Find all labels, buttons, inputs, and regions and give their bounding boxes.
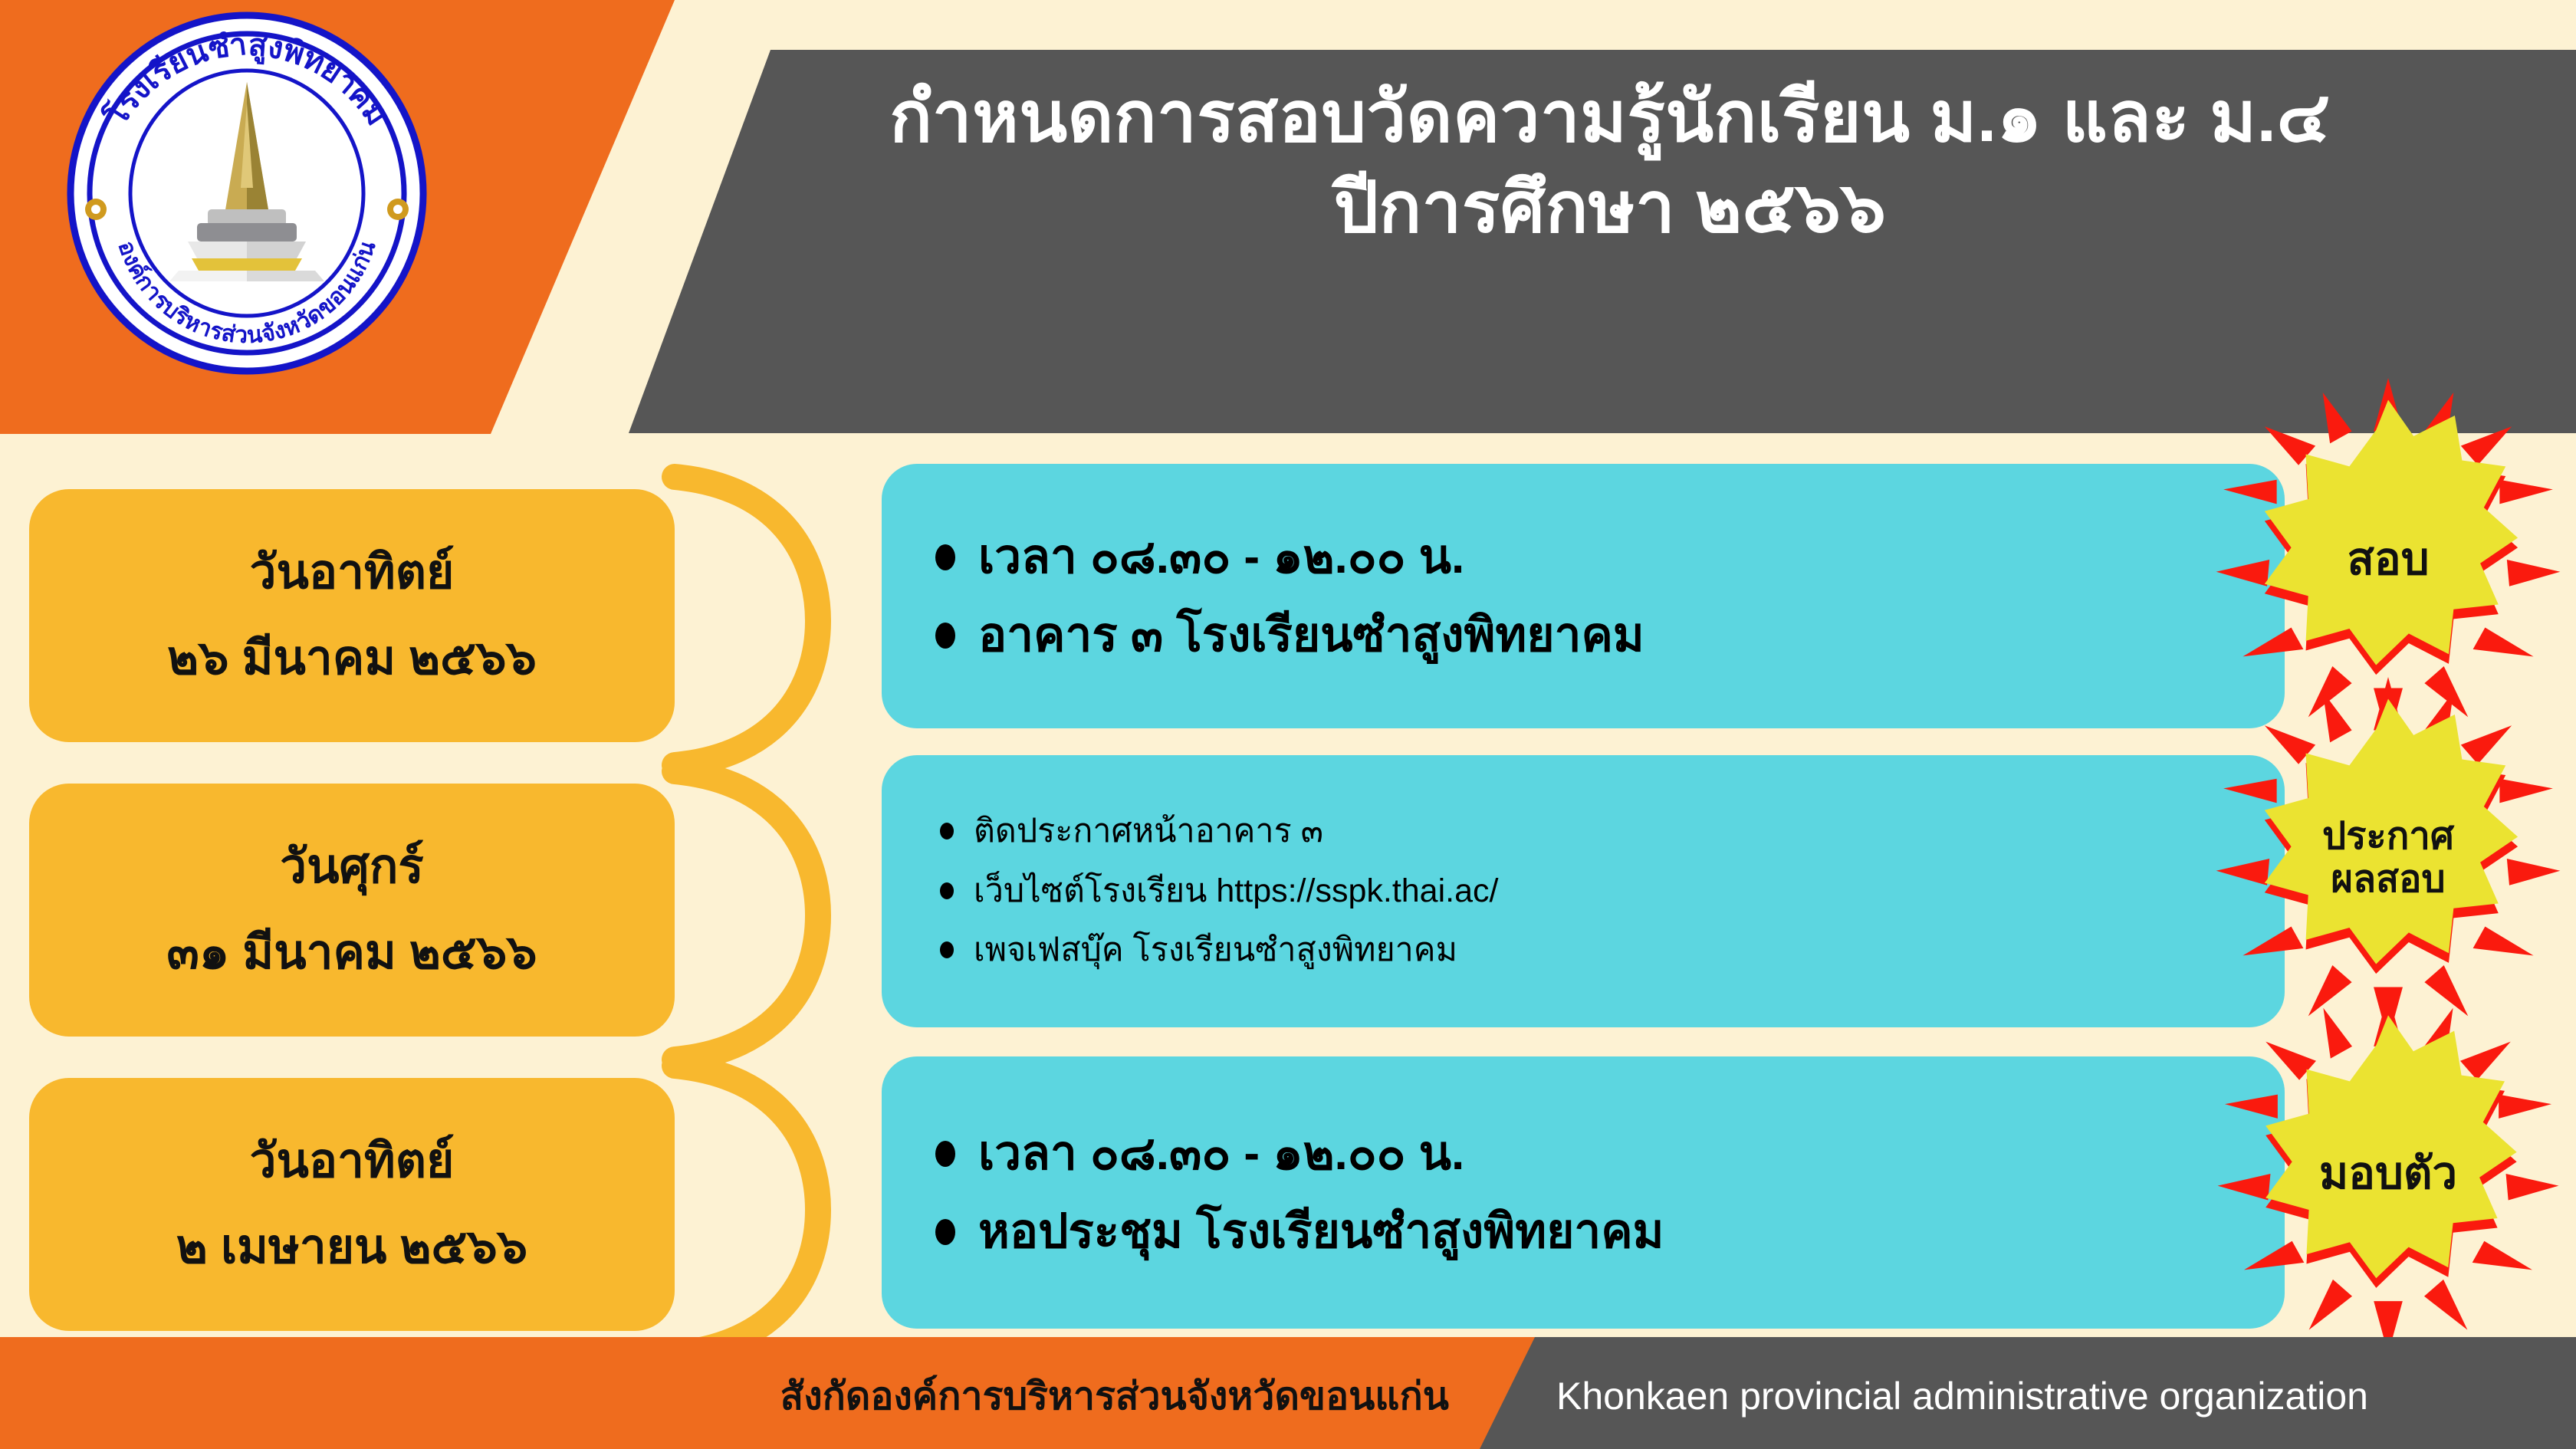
detail-list: เวลา ๐๘.๓๐ - ๑๒.๐๐ น. หอประชุม โรงเรียนซ… bbox=[928, 1104, 2239, 1280]
list-item: เพจเฟสบุ๊ค โรงเรียนซำสูงพิทยาคม bbox=[928, 931, 2239, 971]
list-item: เวลา ๐๘.๓๐ - ๑๒.๐๐ น. bbox=[928, 1125, 2239, 1181]
badge-line1: มอบตัว bbox=[2319, 1148, 2457, 1199]
badge-line1: ประกาศ bbox=[2322, 816, 2454, 859]
schedule-detail-panel: เวลา ๐๘.๓๐ - ๑๒.๐๐ น. หอประชุม โรงเรียนซ… bbox=[882, 1056, 2285, 1329]
page-title: กำหนดการสอบวัดความรู้นักเรียน ม.๑ และ ม.… bbox=[690, 73, 2530, 254]
schedule-date-label: ๒ เมษายน ๒๕๖๖ bbox=[176, 1221, 527, 1273]
schedule-date-label: ๒๖ มีนาคม ๒๕๖๖ bbox=[167, 632, 537, 685]
page-title-line2: ปีการศึกษา ๒๕๖๖ bbox=[690, 163, 2530, 254]
list-item: อาคาร ๓ โรงเรียนซำสูงพิทยาคม bbox=[928, 607, 2239, 663]
bullet-dot-icon bbox=[935, 1219, 955, 1245]
schedule-date-card[interactable]: วันอาทิตย์ ๒ เมษายน ๒๕๖๖ bbox=[29, 1078, 675, 1331]
detail-list: ติดประกาศหน้าอาคาร ๓ เว็บไซต์โรงเรียน ht… bbox=[928, 792, 2239, 991]
schedule-date-card[interactable]: วันอาทิตย์ ๒๖ มีนาคม ๒๕๖๖ bbox=[29, 489, 675, 742]
brace-connector bbox=[661, 1049, 837, 1371]
list-item: ติดประกาศหน้าอาคาร ๓ bbox=[928, 812, 2239, 852]
badge-text: ประกาศ ผลสอบ bbox=[2206, 675, 2570, 1043]
poster-canvas: โรงเรียนซำสูงพิทยาคม องค์การบริหารส่วนจั… bbox=[0, 0, 2576, 1449]
detail-text: หอประชุม โรงเรียนซำสูงพิทยาคม bbox=[978, 1204, 1664, 1260]
status-badge: มอบตัว bbox=[2206, 994, 2570, 1354]
schedule-date-card[interactable]: วันศุกร์ ๓๑ มีนาคม ๒๕๖๖ bbox=[29, 784, 675, 1037]
schedule-detail-panel: เวลา ๐๘.๓๐ - ๑๒.๐๐ น. อาคาร ๓ โรงเรียนซำ… bbox=[882, 464, 2285, 728]
schedule-day-label: วันศุกร์ bbox=[280, 841, 423, 893]
list-item[interactable]: เว็บไซต์โรงเรียน https://sspk.thai.ac/ bbox=[928, 872, 2239, 912]
brace-connector bbox=[661, 754, 837, 1076]
list-item: เวลา ๐๘.๓๐ - ๑๒.๐๐ น. bbox=[928, 529, 2239, 585]
bullet-dot-icon bbox=[935, 544, 955, 570]
brace-connector bbox=[661, 460, 837, 782]
bullet-dot-icon bbox=[940, 823, 954, 839]
detail-text: เพจเฟสบุ๊ค โรงเรียนซำสูงพิทยาคม bbox=[974, 931, 1457, 971]
badge-text: มอบตัว bbox=[2206, 994, 2570, 1354]
bullet-dot-icon bbox=[940, 941, 954, 958]
bullet-dot-icon bbox=[940, 882, 954, 899]
badge-line2: ผลสอบ bbox=[2331, 859, 2445, 902]
footer-affiliation-english: Khonkaen provincial administrative organ… bbox=[1556, 1354, 2545, 1438]
badge-line1: สอบ bbox=[2347, 534, 2429, 585]
bullet-dot-icon bbox=[935, 1141, 955, 1167]
list-item: หอประชุม โรงเรียนซำสูงพิทยาคม bbox=[928, 1204, 2239, 1260]
detail-list: เวลา ๐๘.๓๐ - ๑๒.๐๐ น. อาคาร ๓ โรงเรียนซำ… bbox=[928, 508, 2239, 684]
detail-text: เวลา ๐๘.๓๐ - ๑๒.๐๐ น. bbox=[978, 529, 1464, 585]
schedule-day-label: วันอาทิตย์ bbox=[250, 1135, 455, 1188]
detail-text: อาคาร ๓ โรงเรียนซำสูงพิทยาคม bbox=[978, 607, 1644, 663]
schedule-detail-panel: ติดประกาศหน้าอาคาร ๓ เว็บไซต์โรงเรียน ht… bbox=[882, 755, 2285, 1027]
detail-text: ติดประกาศหน้าอาคาร ๓ bbox=[974, 812, 1323, 852]
schedule-day-label: วันอาทิตย์ bbox=[250, 547, 455, 599]
detail-text-website-link[interactable]: เว็บไซต์โรงเรียน https://sspk.thai.ac/ bbox=[974, 872, 1498, 912]
bullet-dot-icon bbox=[935, 623, 955, 649]
detail-text: เวลา ๐๘.๓๐ - ๑๒.๐๐ น. bbox=[978, 1125, 1464, 1181]
school-seal-logo: โรงเรียนซำสูงพิทยาคม องค์การบริหารส่วนจั… bbox=[65, 11, 429, 376]
page-title-line1: กำหนดการสอบวัดความรู้นักเรียน ม.๑ และ ม.… bbox=[889, 78, 2331, 156]
footer-affiliation-thai: สังกัดองค์การบริหารส่วนจังหวัดขอนแก่น bbox=[675, 1354, 1449, 1438]
schedule-date-label: ๓๑ มีนาคม ๒๕๖๖ bbox=[166, 927, 537, 979]
status-badge: ประกาศ ผลสอบ bbox=[2206, 675, 2570, 1043]
